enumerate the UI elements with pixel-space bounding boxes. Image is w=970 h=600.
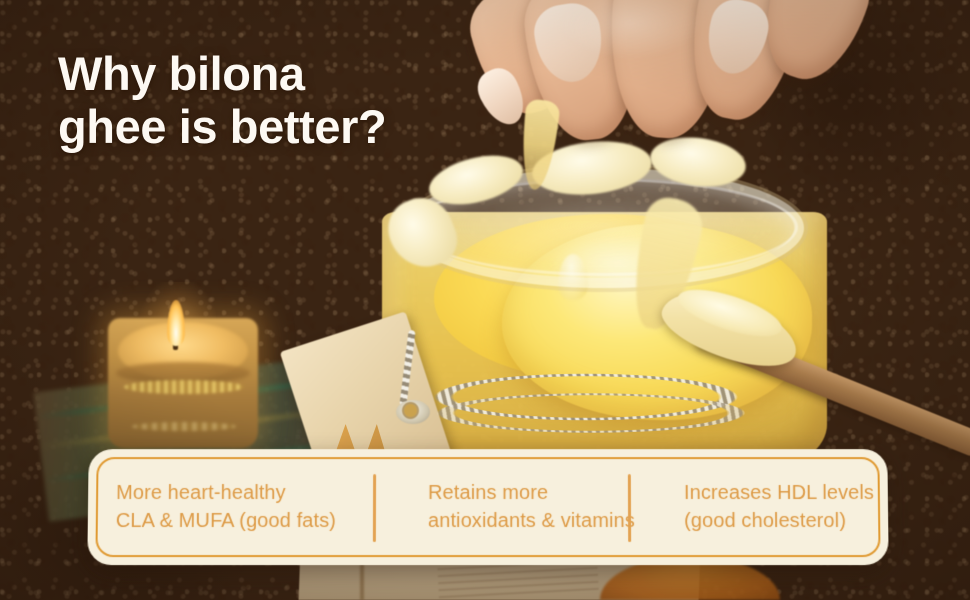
hand (470, 0, 870, 192)
benefits-list: More heart-healthy CLA & MUFA (good fats… (87, 449, 888, 565)
benefit-item-heart-healthy: More heart-healthy CLA & MUFA (good fats… (116, 479, 402, 536)
candle-bead-band (132, 422, 236, 431)
benefit-item-antioxidants: Retains more antioxidants & vitamins (402, 479, 658, 536)
benefit-divider (373, 474, 376, 542)
page-title: Why bilona ghee is better? (58, 48, 386, 153)
tag-eyelet (404, 404, 417, 417)
hand-highlight (560, 0, 700, 58)
benefits-banner: More heart-healthy CLA & MUFA (good fats… (88, 449, 888, 565)
candle-bead-band (124, 380, 244, 394)
benefits-banner-card: More heart-healthy CLA & MUFA (good fats… (87, 449, 888, 565)
promotional-banner-image: Why bilona ghee is better? More heart-he… (0, 0, 970, 600)
benefit-divider (628, 474, 631, 542)
benefit-item-hdl: Increases HDL levels (good cholesterol) (658, 479, 909, 536)
jar-twine (398, 388, 784, 438)
